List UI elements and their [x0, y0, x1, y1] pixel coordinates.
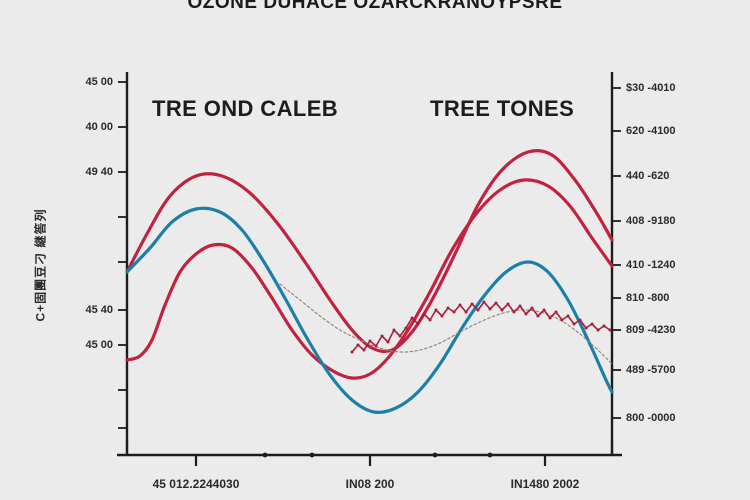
series-noisy-marker	[585, 327, 588, 330]
series-noisy-marker	[543, 309, 546, 312]
y-axis-right-tick-label: 410 -1240	[626, 259, 676, 271]
series-noisy-marker	[579, 319, 582, 322]
series-noisy-marker	[423, 313, 426, 316]
series-noisy-marker	[381, 335, 384, 338]
series-noisy-marker	[519, 305, 522, 308]
series-noisy-marker	[399, 335, 402, 338]
y-axis-right-tick-label: 440 -620	[626, 170, 669, 182]
series-noisy-marker	[471, 303, 474, 306]
y-axis-right-tick-label: 809 -4230	[626, 324, 676, 336]
series-noisy-marker	[411, 317, 414, 320]
series-noisy-marker	[429, 319, 432, 322]
series-blue-curve	[127, 208, 612, 412]
y-axis-label: C+固團豆刁 継筶列	[32, 208, 49, 321]
y-axis-right-tick-label: 810 -800	[626, 292, 669, 304]
series-noisy-marker	[531, 307, 534, 310]
series-noisy-marker	[507, 303, 510, 306]
y-axis-right-tick-label: 620 -4100	[626, 125, 676, 137]
series-noisy-marker	[513, 311, 516, 314]
y-axis-left-tick-label: 49 40	[85, 166, 113, 178]
series-noisy-marker	[393, 329, 396, 332]
series-noisy-marker	[501, 309, 504, 312]
series-noisy-marker	[609, 329, 612, 332]
series-noisy-marker	[603, 325, 606, 328]
series-noisy-crimson-series	[352, 302, 610, 352]
series-noisy-marker	[591, 323, 594, 326]
series-noisy-marker	[567, 315, 570, 318]
series-noisy-marker	[555, 311, 558, 314]
chart-figure: OZONE DUHACE OZARCKRANOYPSRE TRE OND CAL…	[0, 0, 750, 500]
series-noisy-marker	[597, 329, 600, 332]
series-noisy-marker	[489, 308, 492, 311]
annotation-left: TRE OND CALEB	[152, 96, 338, 122]
annotation-right: TREE TONES	[430, 96, 574, 122]
series-noisy-marker	[483, 301, 486, 304]
series-noisy-marker	[525, 313, 528, 316]
series-noisy-marker	[549, 317, 552, 320]
series-noisy-marker	[405, 327, 408, 330]
series-noisy-marker	[573, 323, 576, 326]
y-axis-left-tick-label: 45 00	[85, 339, 113, 351]
x-axis-tick-label: 45 012.2244030	[153, 477, 240, 491]
series-noisy-marker	[435, 309, 438, 312]
plot-area	[0, 0, 750, 500]
series-noisy-marker	[495, 302, 498, 305]
y-axis-left-tick-label: 45 40	[85, 304, 113, 316]
x-axis-tick-label: IN08 200	[346, 477, 395, 491]
x-axis-minor-tick	[488, 453, 493, 458]
series-noisy-marker	[561, 319, 564, 322]
series-noisy-marker	[369, 340, 372, 343]
series-noisy-marker	[453, 311, 456, 314]
x-axis-minor-tick	[263, 453, 268, 458]
y-axis-right-tick-label: $30 -4010	[626, 82, 676, 94]
series-noisy-marker	[417, 323, 420, 326]
series-noisy-marker	[465, 311, 468, 314]
x-axis-tick-label: IN1480 2002	[511, 477, 580, 491]
series-noisy-marker	[537, 315, 540, 318]
y-axis-right-tick-label: 408 -9180	[626, 215, 676, 227]
series-noisy-marker	[363, 349, 366, 352]
series-noisy-marker	[357, 344, 360, 347]
series-noisy-marker	[459, 304, 462, 307]
x-axis-minor-tick	[310, 453, 315, 458]
series-noisy-marker	[441, 315, 444, 318]
series-noisy-marker	[351, 351, 354, 354]
x-axis-minor-tick	[433, 453, 438, 458]
series-noisy-marker	[447, 307, 450, 310]
y-axis-left-tick-label: 45 00	[85, 76, 113, 88]
y-axis-right-tick-label: 800 -0000	[626, 412, 676, 424]
series-noisy-marker	[477, 309, 480, 312]
y-axis-left-tick-label: 40 00	[85, 121, 113, 133]
series-noisy-marker	[375, 345, 378, 348]
series-noisy-marker	[387, 341, 390, 344]
y-axis-right-tick-label: 489 -5700	[626, 364, 676, 376]
